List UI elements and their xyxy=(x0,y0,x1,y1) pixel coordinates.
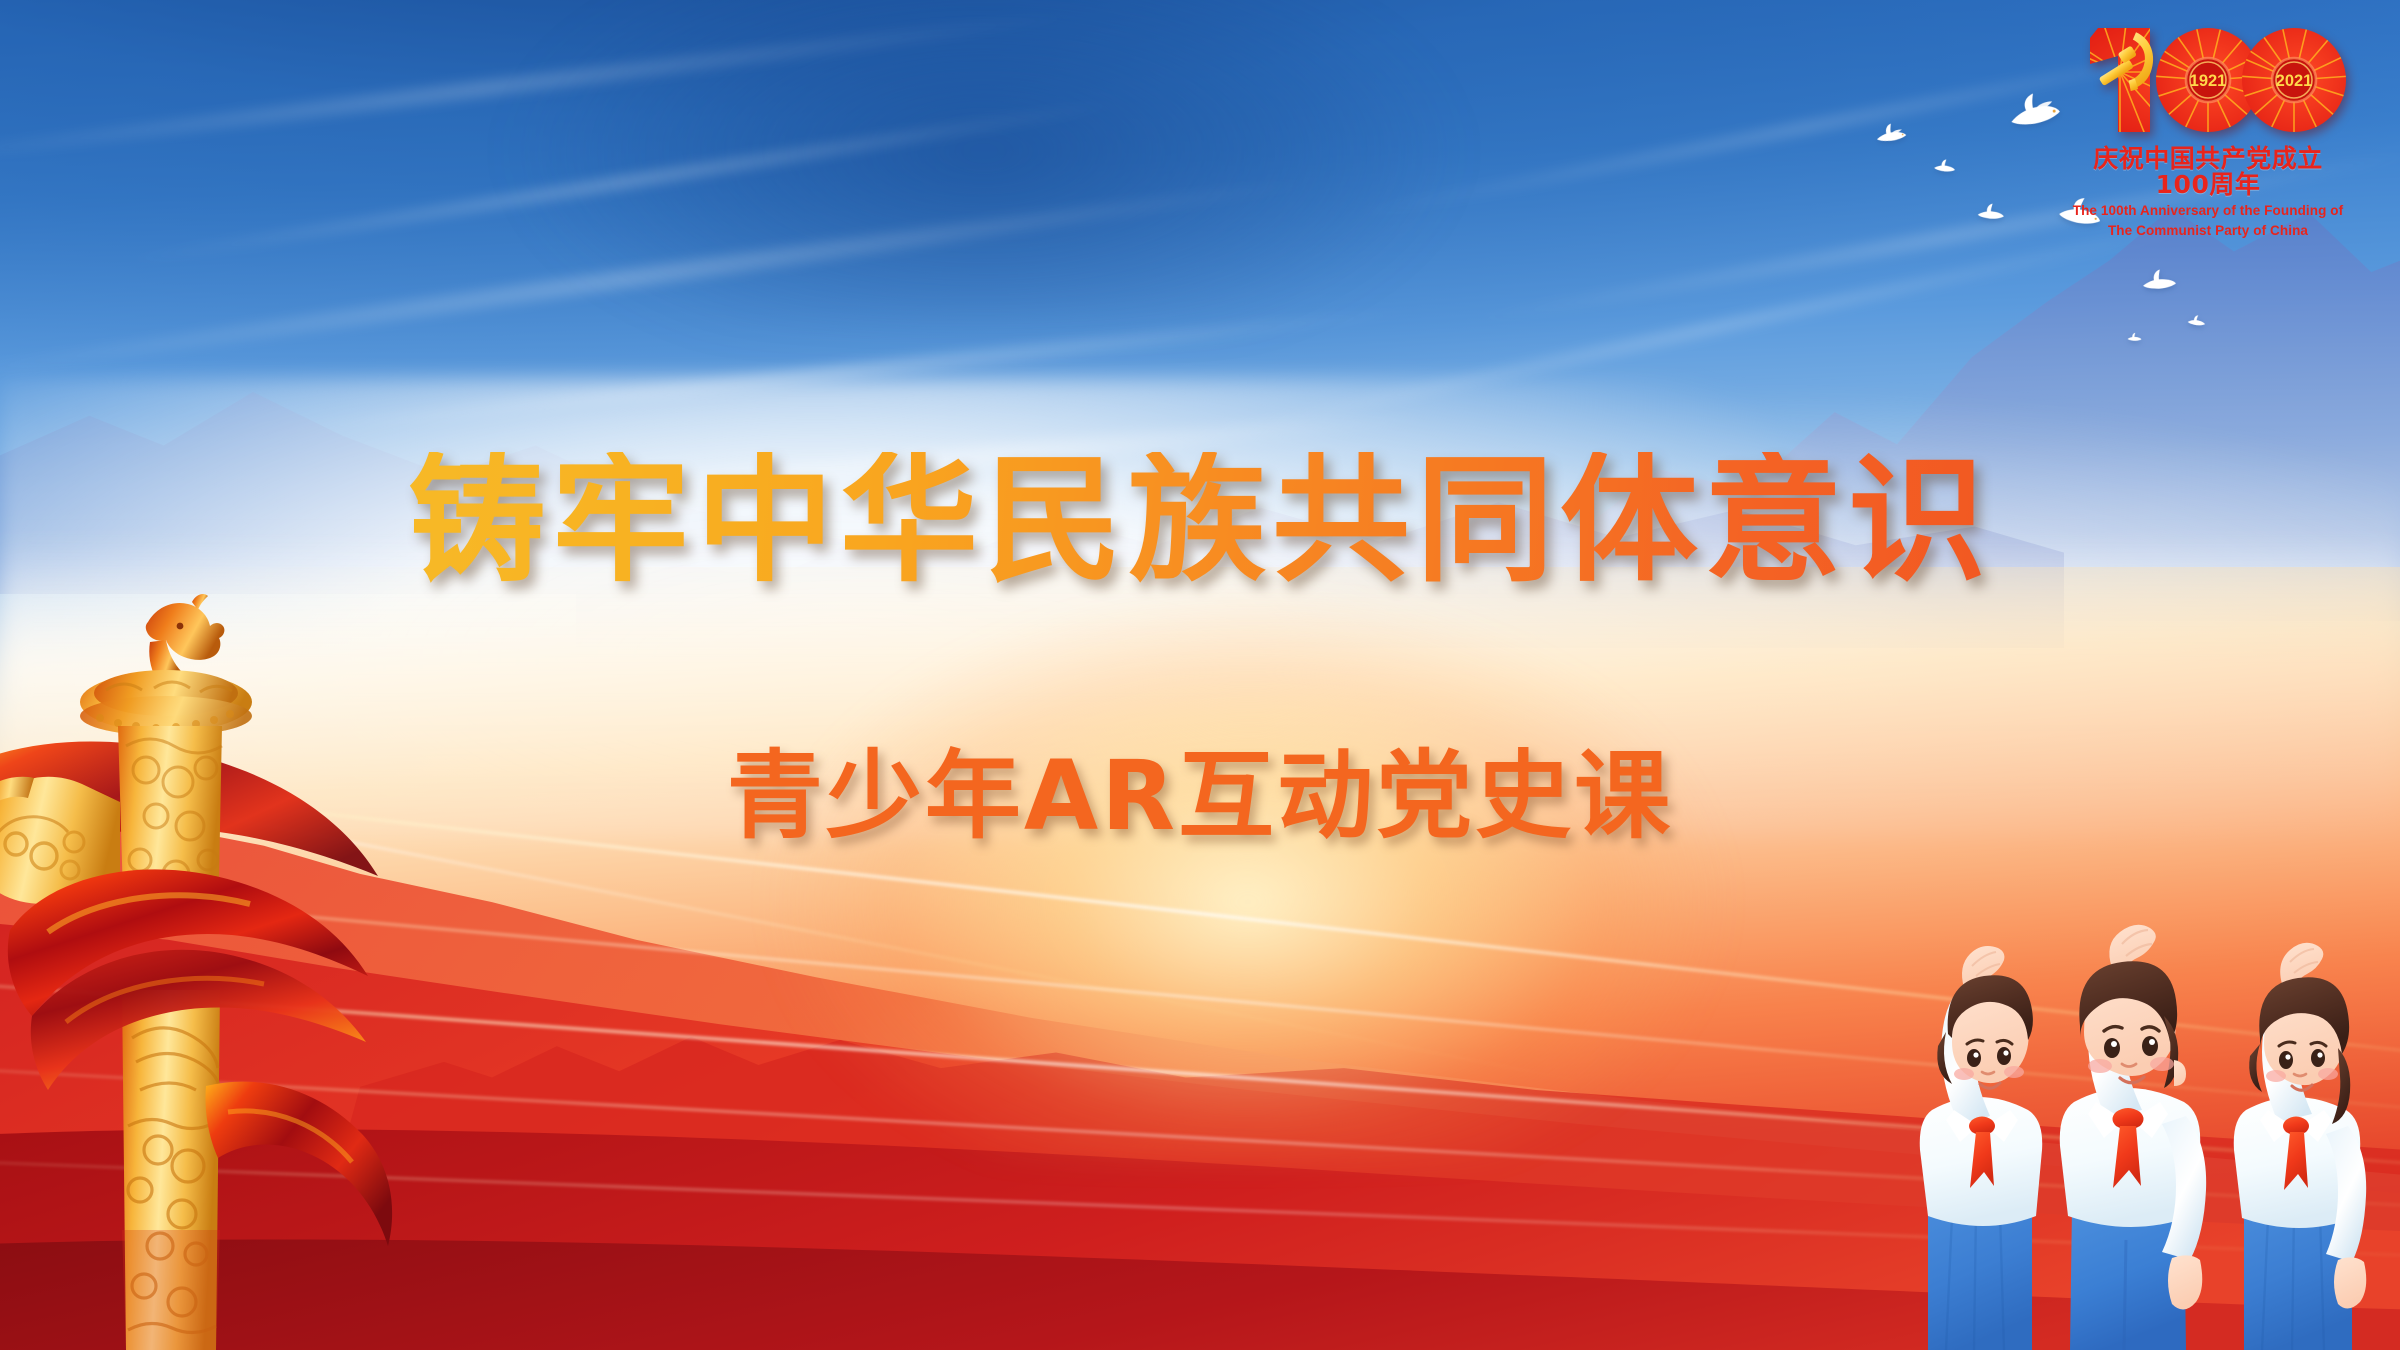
young-pioneers-group xyxy=(1868,810,2400,1350)
child-center xyxy=(2060,925,2206,1350)
column-shaft-lower xyxy=(122,990,220,1350)
logo-year-end: 2021 xyxy=(2276,72,2313,90)
child-right xyxy=(2234,943,2367,1350)
ribbon-tail xyxy=(206,1082,393,1246)
logo-year-start: 1921 xyxy=(2190,72,2227,90)
logo-english-caption-line1: The 100th Anniversary of the Founding of xyxy=(2068,202,2348,219)
cpc-100th-anniversary-logo: 1921 xyxy=(2068,12,2348,239)
logo-english-caption-line2: The Communist Party of China xyxy=(2068,222,2348,239)
poster-canvas: 1921 xyxy=(0,0,2400,1350)
logo-chinese-caption: 庆祝中国共产党成立100周年 xyxy=(2068,146,2348,199)
huabiao-column xyxy=(0,530,400,1350)
logo-mark-100: 1921 xyxy=(2068,12,2348,142)
hou-beast-icon xyxy=(146,594,225,678)
child-left xyxy=(1920,946,2042,1350)
